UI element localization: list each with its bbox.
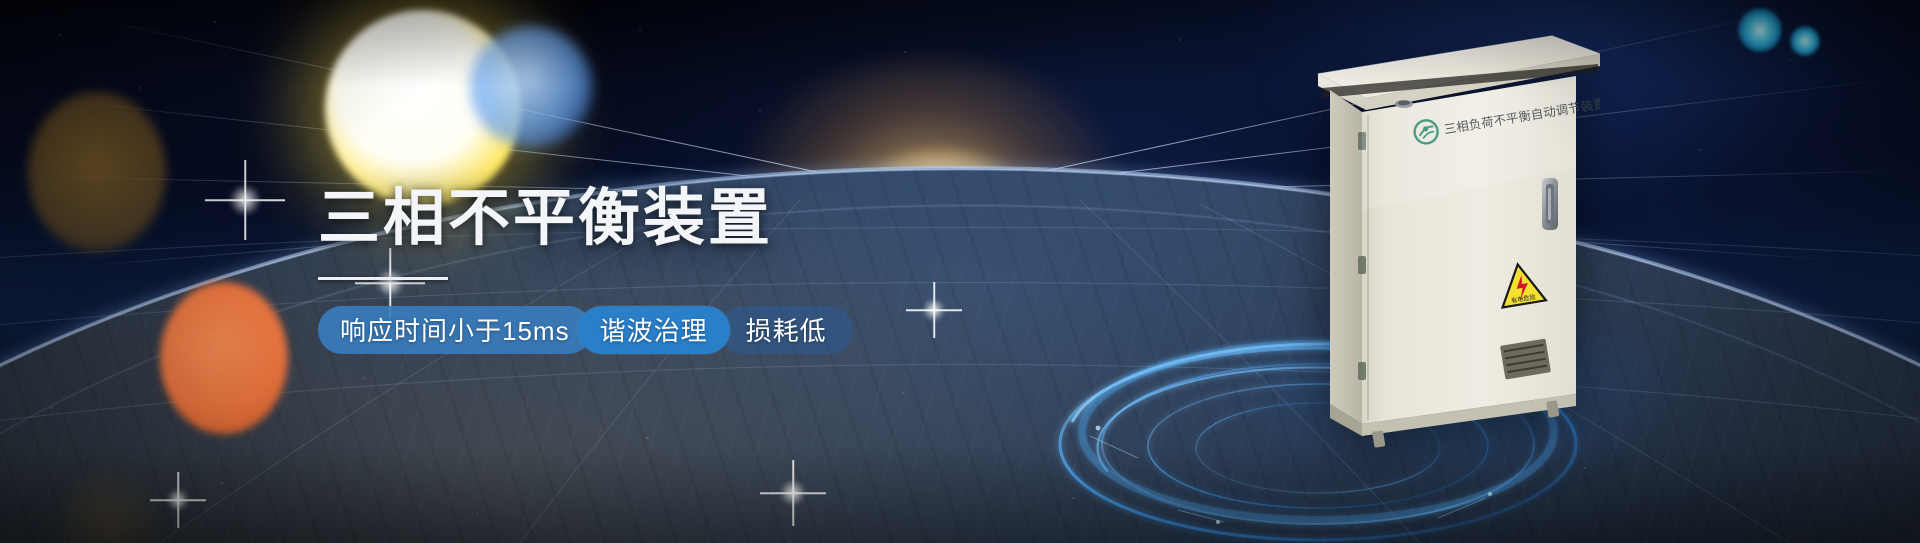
product-cabinet: 三相负荷不平衡自动调节装置 有电危险 — [1300, 28, 1600, 448]
feature-tag-harmonic-control[interactable]: 谐波治理 — [578, 306, 730, 354]
banner-copy: 三相不平衡装置 响应时间小于15ms 谐波治理 损耗低 — [318, 186, 958, 354]
title-divider — [318, 277, 448, 280]
hero-banner: 三相负荷不平衡自动调节装置 有电危险 — [0, 0, 1920, 543]
feature-tag-response-time[interactable]: 响应时间小于15ms — [318, 306, 592, 354]
page-title: 三相不平衡装置 — [318, 186, 958, 253]
door-handle-icon — [1542, 178, 1558, 230]
cabinet-side-panel — [1330, 90, 1362, 424]
feature-tag-low-loss[interactable]: 损耗低 — [720, 306, 853, 354]
earth-horizon-plane — [0, 168, 1920, 543]
feature-tag-list: 响应时间小于15ms 谐波治理 损耗低 — [318, 306, 958, 354]
